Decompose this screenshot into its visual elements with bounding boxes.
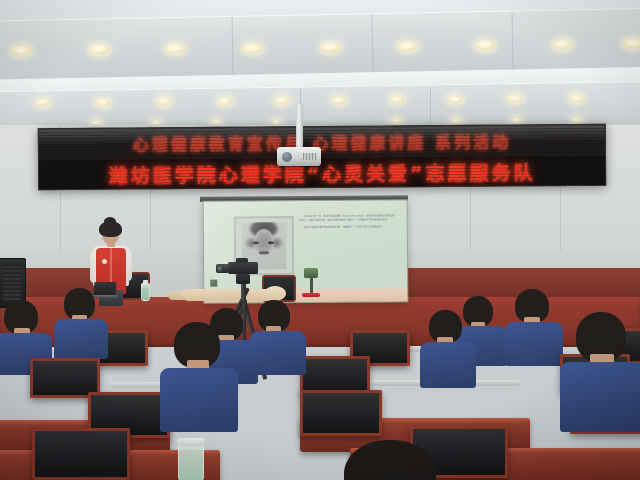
audience-member	[505, 289, 563, 363]
portrait-eye	[267, 241, 273, 244]
ceiling-downlight	[166, 44, 185, 53]
led-banner-line-1: 心理健康教育宣传月 心理健康讲座 系列活动	[133, 129, 511, 156]
auditorium-seat[interactable]	[300, 390, 382, 436]
person-torso	[160, 368, 238, 432]
audience-member	[330, 440, 450, 480]
ceiling-downlight	[392, 119, 401, 123]
ceiling-downlight	[572, 118, 581, 122]
audience-member	[560, 312, 640, 432]
ceiling-downlight	[508, 95, 522, 102]
slide-text-block: 1964年的一天，凯蒂·吉诺维斯（Kitty Genovese）在她居住的曼哈顿…	[299, 214, 395, 232]
ceiling-downlight	[243, 44, 262, 53]
camera-lens-icon	[216, 264, 229, 273]
ceiling-downlight	[321, 43, 340, 52]
bottle-cap	[143, 280, 148, 284]
ceiling-downlight	[390, 96, 404, 103]
person-head	[344, 440, 436, 480]
slide-paragraph: 1964年的一天，凯蒂·吉诺维斯（Kitty Genovese）在她居住的曼哈顿…	[299, 214, 395, 222]
led-banner-row-1: 心理健康教育宣传月 心理健康讲座 系列活动	[39, 125, 605, 159]
portrait-mouth	[259, 251, 269, 254]
cup-lid	[177, 438, 205, 446]
ceiling-downlight	[90, 45, 109, 54]
audience-member	[160, 322, 238, 432]
ceiling-downlight	[476, 41, 495, 50]
person-torso	[250, 331, 306, 375]
projector-mount-pole	[296, 104, 303, 150]
mini-light-post	[310, 278, 313, 294]
camera-handle	[236, 258, 248, 263]
stage-mini-light-stand	[300, 268, 322, 302]
video-camera-body	[228, 262, 258, 274]
led-banner: 心理健康教育宣传月 心理健康讲座 系列活动 潍坊医学院心理学院“心灵关爱”志愿服…	[38, 124, 606, 190]
ceiling-downlight	[512, 118, 521, 122]
audience-member	[54, 288, 110, 358]
person-torso	[420, 342, 476, 388]
ceiling-downlight	[452, 119, 461, 123]
ceiling-downlight	[212, 120, 221, 124]
presenter-hair-bun	[104, 217, 116, 226]
projector-lens-icon	[282, 152, 292, 162]
ceiling-downlight	[96, 99, 110, 106]
disposable-cup	[178, 443, 204, 480]
ceiling-downlight	[275, 97, 289, 104]
water-bottle	[141, 283, 150, 301]
ceiling-downlight	[570, 95, 584, 102]
ceiling-downlight	[398, 42, 417, 51]
ceiling-downlight	[332, 97, 346, 104]
projector-vent	[303, 153, 317, 160]
mini-light-head	[304, 268, 318, 278]
tripod-head	[236, 274, 250, 284]
led-banner-line-2: 潍坊医学院心理学院“心灵关爱”志愿服务队	[109, 158, 536, 188]
person-torso	[560, 362, 640, 432]
presenter-badge	[102, 259, 107, 264]
audience-member	[250, 300, 306, 374]
slide-paragraph: 当她下车朝公寓方向走去的时候，她遭到了一个持刀男人的凶猛袭击。	[299, 225, 395, 230]
person-torso	[54, 319, 108, 359]
ceiling-downlight	[157, 98, 171, 105]
auditorium-seat[interactable]	[32, 428, 130, 480]
ceiling-downlight	[553, 40, 572, 49]
ceiling-downlight	[12, 46, 31, 55]
led-banner-row-2: 潍坊医学院心理学院“心灵关爱”志愿服务队	[39, 155, 605, 190]
ceiling-seam	[430, 88, 431, 130]
mini-light-base	[302, 293, 320, 297]
ceiling-downlight	[448, 96, 462, 103]
ceiling-downlight	[272, 120, 281, 124]
ceiling-downlight	[36, 99, 50, 106]
person-torso	[505, 322, 563, 366]
portrait-eye	[252, 241, 258, 244]
ceiling-downlight	[218, 98, 232, 105]
auditorium-photo: 心理健康教育宣传月 心理健康讲座 系列活动 潍坊医学院心理学院“心灵关爱”志愿服…	[0, 0, 640, 480]
audience-member	[420, 310, 476, 386]
ceiling	[0, 0, 640, 132]
ceiling-projector	[277, 147, 321, 166]
ceiling-downlight	[624, 39, 640, 48]
tripod-center-column	[241, 283, 246, 301]
